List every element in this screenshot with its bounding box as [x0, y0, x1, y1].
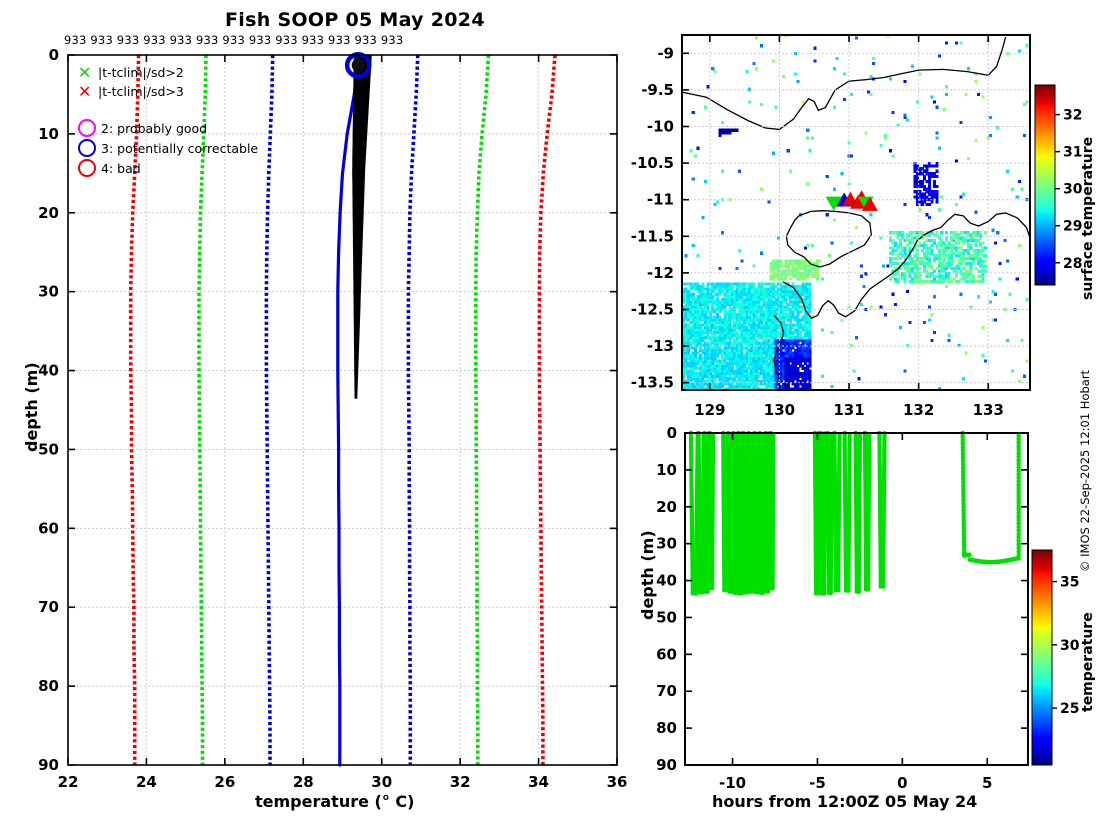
svg-text:24: 24	[136, 773, 157, 791]
svg-text:28: 28	[293, 773, 314, 791]
legend-label-sd2: |t-tclim|/sd>2	[98, 65, 184, 80]
svg-text:50: 50	[38, 440, 59, 458]
svg-text:26: 26	[214, 773, 235, 791]
svg-text:34: 34	[528, 773, 549, 791]
svg-text:60: 60	[38, 519, 59, 537]
circle-icon-red	[78, 159, 96, 177]
svg-text:-13.5: -13.5	[631, 374, 674, 392]
svg-text:22: 22	[58, 773, 79, 791]
svg-text:-10.5: -10.5	[631, 154, 674, 172]
legend-label-sd3: |t-tclim|/sd>3	[98, 84, 184, 99]
svg-text:40: 40	[38, 362, 59, 380]
svg-text:0: 0	[49, 46, 59, 64]
svg-text:-11: -11	[647, 191, 674, 209]
svg-text:131: 131	[833, 401, 864, 419]
timeseries-xaxis-label: hours from 12:00Z 05 May 24	[712, 792, 977, 811]
profile-yaxis-label: depth (m)	[22, 362, 41, 452]
svg-text:-12.5: -12.5	[631, 300, 674, 318]
circle-icon-blue	[78, 139, 96, 157]
svg-text:130: 130	[764, 401, 795, 419]
sst-map-panel: 129130131132133-9-9.5-10-10.5-11-11.5-12…	[630, 0, 1100, 430]
svg-text:70: 70	[38, 598, 59, 616]
profile-xaxis-label: temperature (° C)	[255, 792, 414, 811]
legend-entry-sd2: ✕ |t-tclim|/sd>2	[78, 63, 258, 82]
map-svg: 129130131132133-9-9.5-10-10.5-11-11.5-12…	[630, 0, 1100, 430]
map-colorbar-label: surface temperature	[1080, 137, 1096, 300]
svg-text:-9.5: -9.5	[641, 81, 674, 99]
copyright-text: © IMOS 22-Sep-2025 12:01 Hobart	[1078, 370, 1092, 572]
svg-text:30: 30	[371, 773, 392, 791]
svg-text:-13: -13	[647, 337, 674, 355]
depth-time-panel: -10-5050102030405060708090253035	[620, 420, 1100, 820]
svg-text:133: 133	[973, 401, 1004, 419]
legend-entry-flag2: 2: probably good	[78, 118, 258, 138]
svg-text:10: 10	[38, 125, 59, 143]
svg-text:32: 32	[450, 773, 471, 791]
timeseries-svg: -10-5050102030405060708090253035	[620, 420, 1100, 820]
legend-entry-flag4: 4: bad	[78, 158, 258, 178]
svg-text:80: 80	[38, 677, 59, 695]
legend-label-flag2: 2: probably good	[101, 121, 207, 136]
legend-entry-flag3: 3: potentially correctable	[78, 138, 258, 158]
svg-text:-9: -9	[657, 44, 674, 62]
svg-text:30: 30	[38, 283, 59, 301]
svg-text:90: 90	[38, 756, 59, 774]
svg-text:129: 129	[694, 401, 725, 419]
legend-label-flag4: 4: bad	[101, 161, 141, 176]
timeseries-colorbar-label: temperature	[1080, 612, 1096, 712]
svg-text:20: 20	[38, 204, 59, 222]
svg-text:-11.5: -11.5	[631, 227, 674, 245]
circle-icon-magenta	[78, 119, 96, 137]
cross-icon-red: ✕	[78, 82, 98, 101]
svg-text:132: 132	[903, 401, 934, 419]
svg-text:-10: -10	[647, 117, 674, 135]
timeseries-yaxis-label: depth (m)	[638, 530, 657, 620]
profile-legend: ✕ |t-tclim|/sd>2 ✕ |t-tclim|/sd>3 2: pro…	[78, 63, 258, 178]
legend-entry-sd3: ✕ |t-tclim|/sd>3	[78, 82, 258, 101]
svg-text:32: 32	[1063, 108, 1082, 124]
legend-label-flag3: 3: potentially correctable	[101, 141, 258, 156]
cross-icon-green: ✕	[78, 63, 98, 82]
svg-text:-12: -12	[647, 264, 674, 282]
